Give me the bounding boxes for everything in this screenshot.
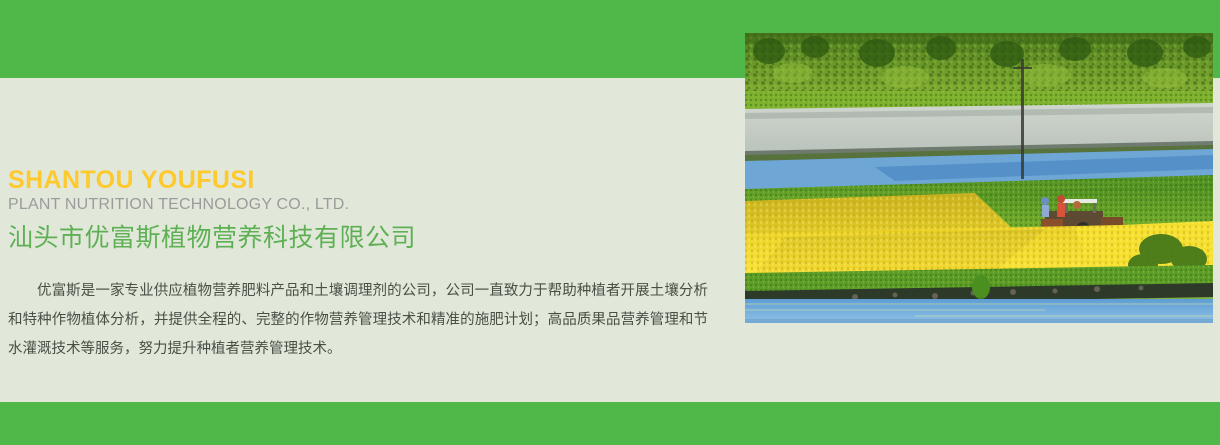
company-name-chinese: 汕头市优富斯植物营养科技有限公司 [8, 222, 718, 254]
company-subtitle-english: PLANT NUTRITION TECHNOLOGY CO., LTD. [8, 194, 718, 216]
footer-green-band [0, 402, 1220, 445]
company-intro-paragraph: 优富斯是一家专业供应植物营养肥料产品和土壤调理剂的公司，公司一直致力于帮助种植者… [8, 277, 708, 364]
company-name-english: SHANTOU YOUFUSI [8, 166, 718, 194]
company-profile-page: SHANTOU YOUFUSI PLANT NUTRITION TECHNOLO… [0, 0, 1220, 445]
rice-paddy-photo-illustration [745, 33, 1213, 323]
brand-block: SHANTOU YOUFUSI PLANT NUTRITION TECHNOLO… [8, 166, 718, 254]
rice-paddy-photo [745, 33, 1213, 323]
